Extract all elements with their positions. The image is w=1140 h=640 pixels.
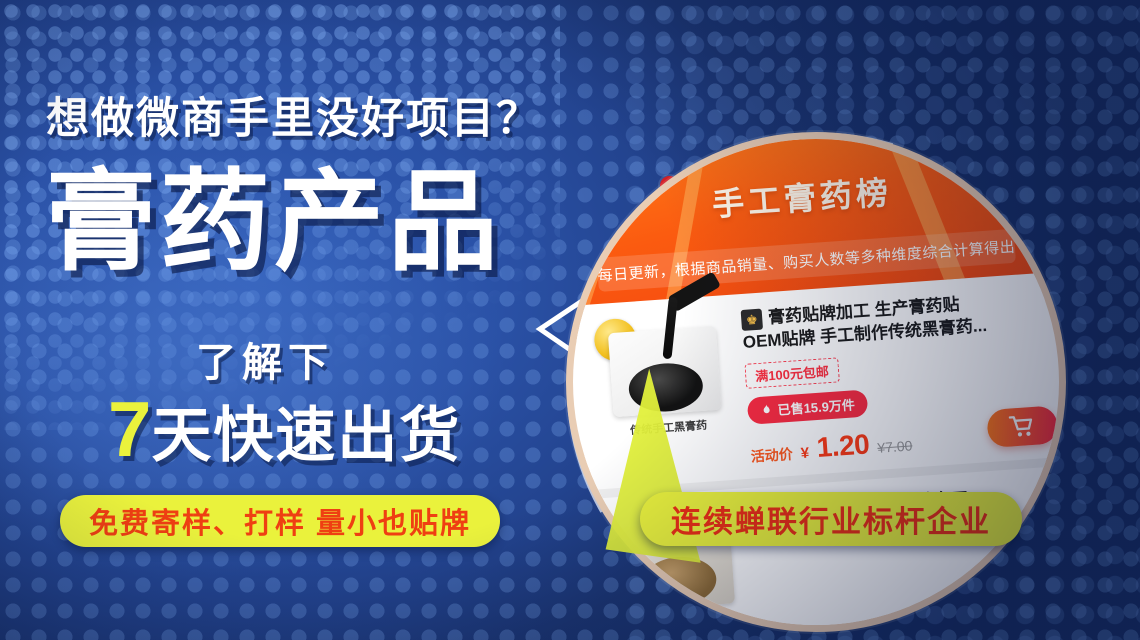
price-currency: ¥ [800,445,810,463]
page-title: 膏药产品 [46,168,502,278]
promo-banner: 想做微商手里没好项目？ 膏药产品 了解下 7 天快速出货 免费寄样、打样 量小也… [0,0,1140,640]
shop-badge-icon: ♚ [741,309,763,331]
price-label: 活动价 [750,444,793,467]
sold-label: 已售15.9万件 [777,394,855,418]
shopping-cart-icon [1009,414,1037,440]
pour-stream-shape [663,297,678,360]
badge-industry-leader[interactable]: 连续蝉联行业标杆企业 [640,492,1022,546]
price-current: 1.20 [816,428,871,464]
plaster-blob-shape [641,554,718,607]
price-original: ¥7.00 [877,437,913,455]
badge-free-sample-label: 免费寄样、打样 量小也贴牌 [89,500,471,542]
days-text: 天快速出货 [151,406,461,466]
subtitle-line1: 了解下 [196,330,334,388]
ranking-title: 手工膏药榜 [573,157,1038,236]
subtitle-line2: 7 天快速出货 [108,390,461,468]
badge-industry-leader-label: 连续蝉联行业标杆企业 [671,497,991,541]
badge-free-sample[interactable]: 免费寄样、打样 量小也贴牌 [60,495,500,547]
kicker-text: 想做微商手里没好项目？ [46,84,541,146]
add-to-cart-button[interactable] [986,405,1058,448]
left-copy-block: 想做微商手里没好项目？ 膏药产品 了解下 7 天快速出货 免费寄样、打样 量小也… [0,0,600,640]
flame-icon [760,403,773,417]
product-info: ♚ 膏药贴牌加工 生产膏药贴 OEM贴牌 手工制作传统黑膏药... 满100元包… [730,288,1038,469]
status-badge-sold: 已售15.9万件 [747,389,869,424]
days-number: 7 [108,390,151,468]
